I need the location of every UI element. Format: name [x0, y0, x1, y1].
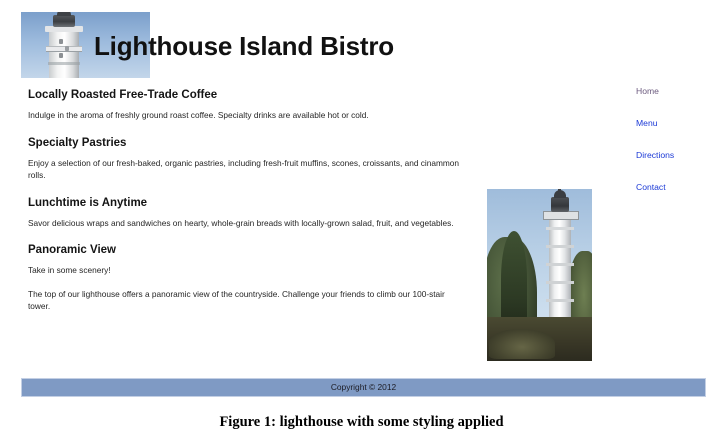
site-navigation: Home Menu Directions Contact	[636, 86, 716, 214]
photo-gallery	[543, 211, 579, 220]
nav-link-directions[interactable]: Directions	[636, 150, 716, 161]
section-text-panoramic-detail: The top of our lighthouse offers a panor…	[28, 288, 468, 313]
site-header: Lighthouse Island Bistro	[0, 0, 723, 80]
site-footer: Copyright © 2012	[21, 378, 706, 397]
nav-link-home[interactable]: Home	[636, 86, 716, 97]
section-text-pastries: Enjoy a selection of our fresh-baked, or…	[28, 157, 468, 182]
site-title: Lighthouse Island Bistro	[94, 31, 394, 62]
section-text-lunchtime: Savor delicious wraps and sandwiches on …	[28, 217, 468, 230]
main-content: Locally Roasted Free-Trade Coffee Indulg…	[28, 88, 468, 313]
section-heading-panoramic: Panoramic View	[28, 243, 468, 257]
section-text-coffee: Indulge in the aroma of freshly ground r…	[28, 109, 468, 122]
lighthouse-side-photo	[487, 189, 592, 361]
logo-tower-shape	[49, 30, 79, 78]
photo-lantern	[551, 197, 569, 212]
web-page: Lighthouse Island Bistro Locally Roasted…	[0, 0, 723, 405]
section-heading-lunchtime: Lunchtime is Anytime	[28, 196, 468, 210]
logo-window-shape	[59, 53, 63, 58]
figure-caption: Figure 1: lighthouse with some styling a…	[0, 414, 723, 431]
section-heading-pastries: Specialty Pastries	[28, 136, 468, 150]
section-heading-coffee: Locally Roasted Free-Trade Coffee	[28, 88, 468, 102]
section-text-panoramic-intro: Take in some scenery!	[28, 264, 468, 277]
photo-brush	[489, 329, 555, 359]
nav-link-menu[interactable]: Menu	[636, 118, 716, 129]
nav-link-contact[interactable]: Contact	[636, 182, 716, 193]
logo-lantern-shape	[53, 15, 75, 27]
photo-tree-conifer	[501, 231, 527, 327]
copyright-text: Copyright © 2012	[22, 379, 705, 396]
